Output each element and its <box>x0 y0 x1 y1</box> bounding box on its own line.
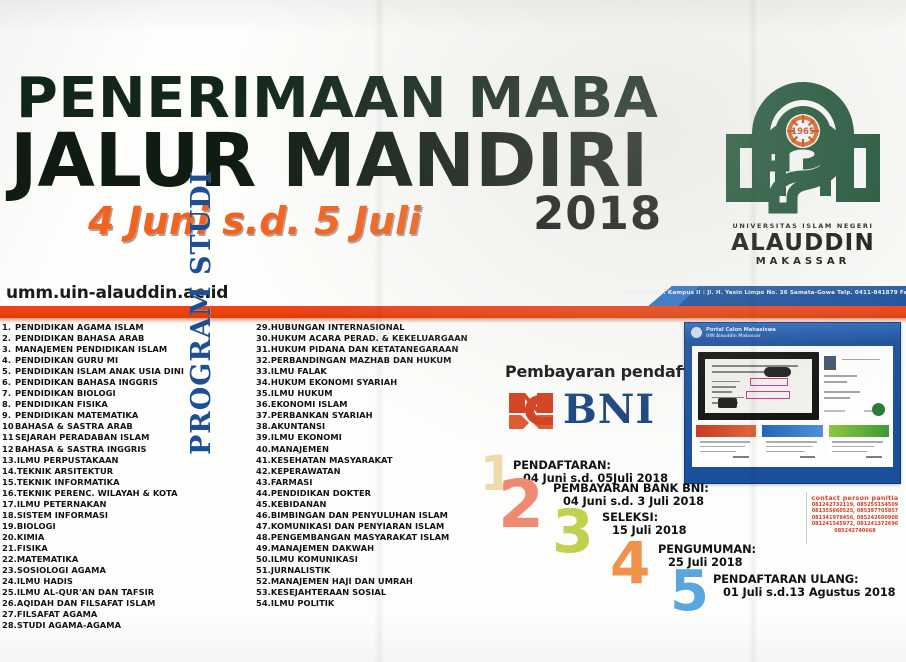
program-item: 45.KEBIDANAN <box>256 499 506 510</box>
program-item-label: STUDI AGAMA-AGAMA <box>17 620 121 630</box>
red-stripe-band <box>0 306 906 318</box>
program-study-section: 1.PENDIDIKAN AGAMA ISLAM2.PENDIDIKAN BAH… <box>0 322 520 652</box>
program-item: 26.AQIDAH DAN FILSAFAT ISLAM <box>2 598 202 609</box>
program-item-label: KOMUNIKASI DAN PENYIARAN ISLAM <box>271 521 444 531</box>
site-note-card <box>705 359 812 413</box>
svg-text:1965: 1965 <box>791 127 815 137</box>
program-item-number: 23. <box>2 565 17 576</box>
program-item: 25.ILMU AL-QUR'AN DAN TAFSIR <box>2 587 202 598</box>
program-item-number: 25. <box>2 587 17 598</box>
program-item: 13.ILMU PERPUSTAKAAN <box>2 455 202 466</box>
program-item: 11SEJARAH PERADABAN ISLAM <box>2 432 202 443</box>
program-item: 32.PERBANDINGAN MAZHAB DAN HUKUM <box>256 355 506 366</box>
secretariat-address: Sekretariat : Kampus II : Jl. H. Yasin L… <box>624 290 906 296</box>
program-item: 17.ILMU PETERNAKAN <box>2 499 202 510</box>
program-item-number: 4. <box>2 355 15 366</box>
site-hero-panel <box>698 352 819 420</box>
site-preview-subtitle: UIN Alauddin Makassar <box>706 333 776 338</box>
program-item: 33.ILMU FALAK <box>256 366 506 377</box>
program-item-number: 11 <box>2 432 15 443</box>
program-item: 27.FILSAFAT AGAMA <box>2 609 202 620</box>
program-item-label: PENDIDIKAN AGAMA ISLAM <box>15 322 144 332</box>
program-item-label: KESEHATAN MASYARAKAT <box>271 455 393 465</box>
program-item-number: 46. <box>256 510 271 521</box>
program-item: 42.KEPERAWATAN <box>256 466 506 477</box>
program-item: 47.KOMUNIKASI DAN PENYIARAN ISLAM <box>256 521 506 532</box>
program-item-label: PENDIDIKAN BAHASA INGGRIS <box>15 377 158 387</box>
program-item: 3.MANAJEMEN PENDIDIKAN ISLAM <box>2 344 202 355</box>
program-item-number: 8. <box>2 399 15 410</box>
program-item: 2.PENDIDIKAN BAHASA ARAB <box>2 333 202 344</box>
program-item-label: MANAJEMEN HAJI DAN UMRAH <box>271 576 413 586</box>
program-item: 10BAHASA & SASTRA ARAB <box>2 421 202 432</box>
program-item-number: 26. <box>2 598 17 609</box>
program-item-label: PENDIDIKAN BIOLOGI <box>15 388 116 398</box>
program-item-label: PERBANKAN SYARIAH <box>271 410 373 420</box>
program-studi-vertical-label: PROGRAM STUDI <box>186 255 217 455</box>
program-item-number: 34. <box>256 377 271 388</box>
program-item-label: BIMBINGAN DAN PENYULUHAN ISLAM <box>271 510 448 520</box>
university-logo: 1965 <box>712 76 894 272</box>
program-item: 6.PENDIDIKAN BAHASA INGGRIS <box>2 377 202 388</box>
program-item: 52.MANAJEMEN HAJI DAN UMRAH <box>256 576 506 587</box>
program-item: 1.PENDIDIKAN AGAMA ISLAM <box>2 322 202 333</box>
crest-icon: 1965 <box>712 76 894 226</box>
program-item-number: 1. <box>2 322 15 333</box>
program-item: 7.PENDIDIKAN BIOLOGI <box>2 388 202 399</box>
year-label: 2018 <box>533 187 662 240</box>
program-item-number: 48. <box>256 532 271 543</box>
program-item: 53.KESEJAHTERAAN SOSIAL <box>256 587 506 598</box>
program-item-label: ILMU POLITIK <box>271 598 335 608</box>
logo-name-label: ALAUDDIN <box>712 230 894 256</box>
program-item-number: 14. <box>2 466 17 477</box>
program-item-label: KEBIDANAN <box>271 499 327 509</box>
program-item: 50.ILMU KOMUNIKASI <box>256 554 506 565</box>
program-item: 4.PENDIDIKAN GURU MI <box>2 355 202 366</box>
program-item-number: 43. <box>256 477 271 488</box>
program-item-label: TEKNIK PERENC. WILAYAH & KOTA <box>17 488 178 498</box>
program-item-number: 37. <box>256 410 271 421</box>
program-item-number: 31. <box>256 344 271 355</box>
program-item-label: HUKUM EKONOMI SYARIAH <box>271 377 397 387</box>
program-item-number: 13. <box>2 455 17 466</box>
program-item-number: 36. <box>256 399 271 410</box>
program-item-label: ILMU KOMUNIKASI <box>271 554 358 564</box>
program-item-number: 7. <box>2 388 15 399</box>
program-item-label: FISIKA <box>17 543 48 553</box>
program-item-number: 20. <box>2 532 17 543</box>
program-item: 20.KIMIA <box>2 532 202 543</box>
program-item: 44.PENDIDIKAN DOKTER <box>256 488 506 499</box>
program-item-number: 54. <box>256 598 271 609</box>
schedule-step-title: PEMBAYARAN BANK BNI: <box>553 481 709 495</box>
schedule-step-number: 4 <box>610 536 649 590</box>
program-item-label: MATEMATIKA <box>17 554 79 564</box>
program-item: 29.HUBUNGAN INTERNASIONAL <box>256 322 506 333</box>
program-item: 9.PENDIDIKAN MATEMATIKA <box>2 410 202 421</box>
program-item-label: PENGEMBANGAN MASYARAKAT ISLAM <box>271 532 450 542</box>
program-item-number: 50. <box>256 554 271 565</box>
program-item: 15.TEKNIK INFORMATIKA <box>2 477 202 488</box>
program-item-label: PENDIDIKAN ISLAM ANAK USIA DINI <box>15 366 184 376</box>
contact-number: 085242740668 <box>806 528 904 534</box>
program-item: 12BAHASA & SASTRA INGGRIS <box>2 444 202 455</box>
program-item: 8.PENDIDIKAN FISIKA <box>2 399 202 410</box>
program-item: 48.PENGEMBANGAN MASYARAKAT ISLAM <box>256 532 506 543</box>
program-item-number: 44. <box>256 488 271 499</box>
program-item-number: 16. <box>2 488 17 499</box>
program-item-label: ILMU FALAK <box>271 366 327 376</box>
schedule-step-date: 01 Juli s.d.13 Agustus 2018 <box>723 585 896 599</box>
program-item: 19.BIOLOGI <box>2 521 202 532</box>
program-item-label: PENDIDIKAN FISIKA <box>15 399 108 409</box>
program-item-label: SEJARAH PERADABAN ISLAM <box>15 432 149 442</box>
program-item: 46.BIMBINGAN DAN PENYULUHAN ISLAM <box>256 510 506 521</box>
program-item-label: KEPERAWATAN <box>271 466 341 476</box>
program-item-label: ILMU HUKUM <box>271 388 333 398</box>
site-logo-icon <box>691 327 702 338</box>
schedule-steps: 1PENDAFTARAN:04 Juni s.d. 05Juli 20182PE… <box>480 452 906 652</box>
program-item-number: 18. <box>2 510 17 521</box>
program-item-label: MANAJEMEN DAKWAH <box>271 543 374 553</box>
schedule-step-title: PENGUMUMAN: <box>658 542 756 556</box>
program-item-label: HUKUM PIDANA DAN KETATANEGARAAN <box>271 344 459 354</box>
program-item-label: KESEJAHTERAAN SOSIAL <box>271 587 386 597</box>
site-preview-header: Portal Calon Mahasiswa UIN Alauddin Maka… <box>685 323 900 342</box>
program-item-number: 28. <box>2 620 17 631</box>
program-item-number: 29. <box>256 322 271 333</box>
program-item-label: MANAJEMEN <box>271 444 329 454</box>
program-item-number: 21. <box>2 543 17 554</box>
program-item-number: 53. <box>256 587 271 598</box>
program-item-label: ILMU PETERNAKAN <box>17 499 107 509</box>
program-item: 21.FISIKA <box>2 543 202 554</box>
logo-city-label: MAKASSAR <box>712 256 894 267</box>
program-item-number: 24. <box>2 576 17 587</box>
bni-logo: BNI <box>507 389 682 434</box>
program-item-label: PENDIDIKAN GURU MI <box>15 355 118 365</box>
program-item-number: 52. <box>256 576 271 587</box>
program-item: 30.HUKUM ACARA PERAD. & KEKELUARGAAN <box>256 333 506 344</box>
program-item-label: PENDIDIKAN DOKTER <box>271 488 371 498</box>
poster-root: PENERIMAAN MABA JALUR MANDIRI 2018 4 Jun… <box>0 0 906 662</box>
program-item: 14.TEKNIK ARSITEKTUR <box>2 466 202 477</box>
program-item: 36.EKONOMI ISLAM <box>256 399 506 410</box>
program-item-label: ILMU AL-QUR'AN DAN TAFSIR <box>17 587 154 597</box>
program-item-number: 33. <box>256 366 271 377</box>
program-item: 39.ILMU EKONOMI <box>256 432 506 443</box>
program-item: 23.SOSIOLOGI AGAMA <box>2 565 202 576</box>
program-item-label: BAHASA & SASTRA ARAB <box>15 421 133 431</box>
program-item-number: 47. <box>256 521 271 532</box>
program-item-number: 41. <box>256 455 271 466</box>
logo-institution-label: UNIVERSITAS ISLAM NEGERI <box>712 222 894 230</box>
schedule-step-number: 5 <box>670 566 708 618</box>
program-item-number: 42. <box>256 466 271 477</box>
program-item: 24.ILMU HADIS <box>2 576 202 587</box>
program-item: 31.HUKUM PIDANA DAN KETATANEGARAAN <box>256 344 506 355</box>
program-item-number: 10 <box>2 421 15 432</box>
site-preview-body <box>692 346 893 467</box>
program-item: 35.ILMU HUKUM <box>256 388 506 399</box>
program-item: 18.SISTEM INFORMASI <box>2 510 202 521</box>
program-item-label: BIOLOGI <box>17 521 56 531</box>
program-item: 28.STUDI AGAMA-AGAMA <box>2 620 202 631</box>
program-item: 41.KESEHATAN MASYARAKAT <box>256 455 506 466</box>
program-item-label: KIMIA <box>17 532 45 542</box>
program-item-label: JURNALISTIK <box>271 565 331 575</box>
program-item-label: PERBANDINGAN MAZHAB DAN HUKUM <box>271 355 452 365</box>
program-item-label: MANAJEMEN PENDIDIKAN ISLAM <box>15 344 167 354</box>
bni-mark-icon <box>507 389 559 433</box>
program-item: 22.MATEMATIKA <box>2 554 202 565</box>
program-item-label: ILMU PERPUSTAKAAN <box>17 455 119 465</box>
program-item-label: FILSAFAT AGAMA <box>17 609 98 619</box>
program-item-label: FARMASI <box>271 477 313 487</box>
program-item-number: 3. <box>2 344 15 355</box>
program-item-number: 39. <box>256 432 271 443</box>
program-item: 38.AKUNTANSI <box>256 421 506 432</box>
program-item-label: AKUNTANSI <box>271 421 325 431</box>
program-item: 49.MANAJEMEN DAKWAH <box>256 543 506 554</box>
program-item-number: 22. <box>2 554 17 565</box>
bni-wordmark: BNI <box>563 386 655 433</box>
program-item-label: SISTEM INFORMASI <box>17 510 108 520</box>
program-item: 16.TEKNIK PERENC. WILAYAH & KOTA <box>2 488 202 499</box>
program-item-number: 32. <box>256 355 271 366</box>
program-item-number: 27. <box>2 609 17 620</box>
program-item-label: SOSIOLOGI AGAMA <box>17 565 106 575</box>
date-range-label: 4 Juni s.d. 5 Juli <box>88 199 421 243</box>
program-item-label: HUKUM ACARA PERAD. & KEKELUARGAAN <box>271 333 468 343</box>
program-item: 34.HUKUM EKONOMI SYARIAH <box>256 377 506 388</box>
program-item-number: 9. <box>2 410 15 421</box>
program-item: 40.MANAJEMEN <box>256 444 506 455</box>
program-list-right: 29.HUBUNGAN INTERNASIONAL30.HUKUM ACARA … <box>256 322 506 609</box>
program-item-number: 19. <box>2 521 17 532</box>
program-item-number: 15. <box>2 477 17 488</box>
contact-person-block: contact person panitia 081242732119, 085… <box>806 494 904 534</box>
program-item-number: 30. <box>256 333 271 344</box>
program-item: 54.ILMU POLITIK <box>256 598 506 609</box>
program-item-label: HUBUNGAN INTERNASIONAL <box>271 322 405 332</box>
program-item-number: 12 <box>2 444 15 455</box>
program-item-number: 45. <box>256 499 271 510</box>
poster-header: PENERIMAAN MABA JALUR MANDIRI 2018 4 Jun… <box>0 0 906 300</box>
program-list-left: 1.PENDIDIKAN AGAMA ISLAM2.PENDIDIKAN BAH… <box>2 322 202 631</box>
program-item-number: 40. <box>256 444 271 455</box>
program-item: 37.PERBANKAN SYARIAH <box>256 410 506 421</box>
program-item-number: 2. <box>2 333 15 344</box>
program-item-number: 51. <box>256 565 271 576</box>
program-item-label: EKONOMI ISLAM <box>271 399 348 409</box>
program-item-label: BAHASA & SASTRA INGGRIS <box>15 444 147 454</box>
program-item: 5.PENDIDIKAN ISLAM ANAK USIA DINI <box>2 366 202 377</box>
program-item-label: PENDIDIKAN MATEMATIKA <box>15 410 138 420</box>
program-item-number: 17. <box>2 499 17 510</box>
program-item-label: TEKNIK ARSITEKTUR <box>17 466 113 476</box>
schedule-step-number: 3 <box>552 504 593 560</box>
schedule-step-title: PENDAFTARAN ULANG: <box>713 572 858 586</box>
contact-number-list: 081242732119, 085255154509081355660525, … <box>806 502 904 534</box>
schedule-step-number: 2 <box>498 474 543 536</box>
program-item-label: PENDIDIKAN BAHASA ARAB <box>15 333 144 343</box>
program-item-number: 6. <box>2 377 15 388</box>
program-item-number: 35. <box>256 388 271 399</box>
program-item-number: 5. <box>2 366 15 377</box>
program-item-label: AQIDAH DAN FILSAFAT ISLAM <box>17 598 156 608</box>
program-item: 51.JURNALISTIK <box>256 565 506 576</box>
program-item: 43.FARMASI <box>256 477 506 488</box>
contact-heading: contact person panitia <box>806 494 904 502</box>
program-item-label: ILMU EKONOMI <box>271 432 342 442</box>
program-item-number: 49. <box>256 543 271 554</box>
program-item-label: TEKNIK INFORMATIKA <box>17 477 120 487</box>
program-item-number: 38. <box>256 421 271 432</box>
program-item-label: ILMU HADIS <box>17 576 73 586</box>
schedule-step-title: SELEKSI: <box>602 510 658 524</box>
